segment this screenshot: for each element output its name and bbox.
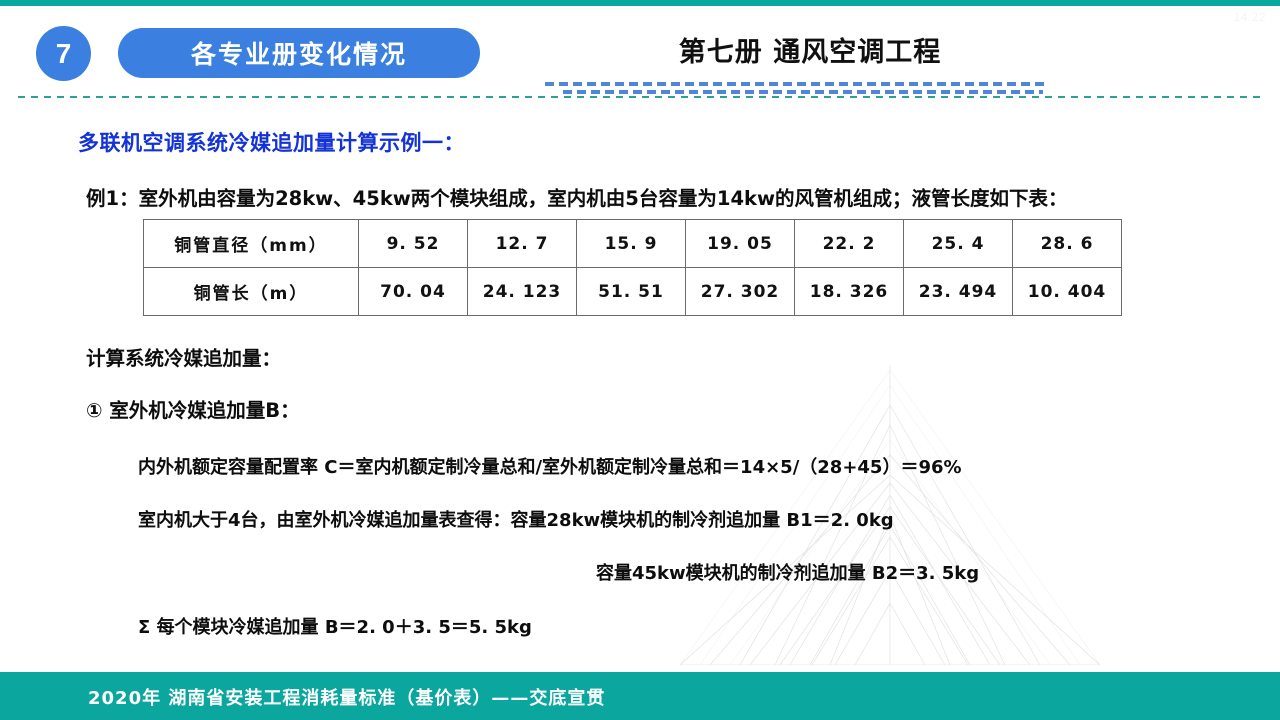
cell-l-7: 10. 404 <box>1013 268 1122 316</box>
cell-l-1: 70. 04 <box>359 268 468 316</box>
content-subtitle: 多联机空调系统冷媒追加量计算示例一： <box>78 127 465 157</box>
cell-d-7: 28. 6 <box>1013 220 1122 268</box>
calc-line-3: 容量45kw模块机的制冷剂追加量 B2＝3. 5kg <box>596 559 979 585</box>
calc-heading: 计算系统冷媒追加量： <box>86 342 281 371</box>
title-underline-lower <box>563 90 1043 94</box>
cell-d-1: 9. 52 <box>359 220 468 268</box>
cell-d-2: 12. 7 <box>468 220 577 268</box>
cell-d-5: 22. 2 <box>795 220 904 268</box>
footer-text: 2020年 湖南省安装工程消耗量标准（基价表）——交底宣贯 <box>88 684 605 710</box>
example-intro-text: 例1：室外机由容量为28kw、45kw两个模块组成，室内机由5台容量为14kw的… <box>86 182 1068 211</box>
cell-l-4: 27. 302 <box>686 268 795 316</box>
cell-d-4: 19. 05 <box>686 220 795 268</box>
calc-line-4: Σ 每个模块冷媒追加量 B＝2. 0＋3. 5＝5. 5kg <box>138 613 532 639</box>
cell-d-3: 15. 9 <box>577 220 686 268</box>
pipe-length-table: 铜管直径（mm） 9. 52 12. 7 15. 9 19. 05 22. 2 … <box>143 219 1122 316</box>
slide-canvas: 14:22 7 各专业册变化情况 第七册 通风空调工程 多联机空调系统冷媒追加量… <box>0 0 1280 720</box>
title-underline-upper <box>545 82 1045 86</box>
table-row: 铜管直径（mm） 9. 52 12. 7 15. 9 19. 05 22. 2 … <box>144 220 1122 268</box>
calc-item-1: ① 室外机冷媒追加量B： <box>86 394 300 423</box>
chapter-title: 第七册 通风空调工程 <box>560 30 1060 69</box>
row-label-diameter: 铜管直径（mm） <box>144 220 359 268</box>
slide-header: 7 各专业册变化情况 第七册 通风空调工程 <box>0 6 1280 98</box>
cell-d-6: 25. 4 <box>904 220 1013 268</box>
cell-l-2: 24. 123 <box>468 268 577 316</box>
slide-footer: 2020年 湖南省安装工程消耗量标准（基价表）——交底宣贯 <box>0 672 1280 720</box>
table-row: 铜管长（m） 70. 04 24. 123 51. 51 27. 302 18.… <box>144 268 1122 316</box>
cell-l-3: 51. 51 <box>577 268 686 316</box>
section-title-pill: 各专业册变化情况 <box>118 28 480 78</box>
section-number-badge: 7 <box>36 26 91 81</box>
row-label-length: 铜管长（m） <box>144 268 359 316</box>
calc-line-2: 室内机大于4台，由室外机冷媒追加量表查得：容量28kw模块机的制冷剂追加量 B1… <box>138 506 894 532</box>
cell-l-6: 23. 494 <box>904 268 1013 316</box>
header-divider <box>18 96 1262 98</box>
calc-line-1: 内外机额定容量配置率 C＝室内机额定制冷量总和/室外机额定制冷量总和＝14×5/… <box>138 453 962 479</box>
cell-l-5: 18. 326 <box>795 268 904 316</box>
